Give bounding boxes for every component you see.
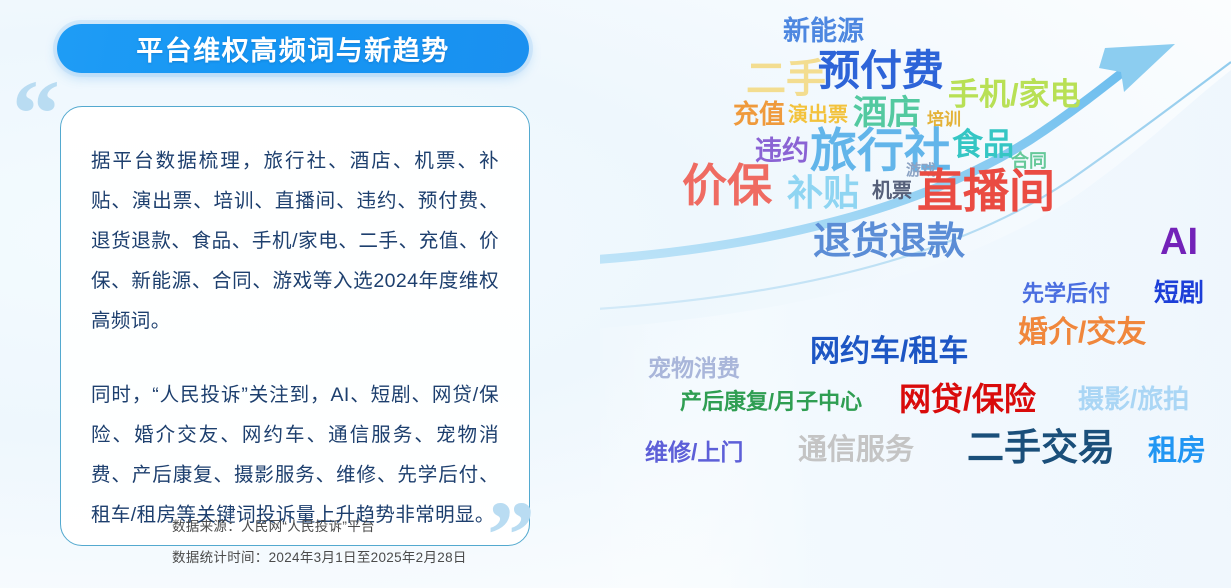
word-cloud-term: 手机/家电 bbox=[948, 79, 1081, 110]
source-line-1: 数据来源：人民网“人民投诉”平台 bbox=[172, 515, 1209, 535]
word-cloud-term: 产后康复/月子中心 bbox=[680, 391, 862, 413]
word-cloud-term: 二手 bbox=[746, 59, 826, 99]
word-cloud-term: 价保 bbox=[682, 163, 772, 208]
word-cloud-term: 网约车/租车 bbox=[810, 337, 968, 367]
paragraph-highfreq-words: 据平台数据梳理，旅行社、酒店、机票、补贴、演出票、培训、直播间、违约、预付费、退… bbox=[91, 141, 499, 341]
word-cloud-term: 短剧 bbox=[1154, 281, 1204, 306]
word-cloud-term: 婚介/交友 bbox=[1018, 318, 1146, 348]
word-cloud-term: 预付费 bbox=[818, 50, 944, 92]
page-title: 平台维权高频词与新趋势 bbox=[57, 24, 529, 73]
page-title-text: 平台维权高频词与新趋势 bbox=[136, 29, 450, 68]
description-card: 据平台数据梳理，旅行社、酒店、机票、补贴、演出票、培训、直播间、违约、预付费、退… bbox=[60, 106, 530, 546]
word-cloud-term: 充值 bbox=[733, 101, 785, 127]
word-cloud-term: 新能源 bbox=[783, 18, 864, 45]
source-line-2: 数据统计时间：2024年3月1日至2025年2月28日 bbox=[172, 546, 1209, 566]
word-cloud-term: 先学后付 bbox=[1022, 283, 1110, 305]
word-cloud-term: 演出票 bbox=[788, 105, 848, 125]
paragraph-new-trends: 同时，“人民投诉”关注到，AI、短剧、网贷/保险、婚介交友、网约车、通信服务、宠… bbox=[91, 375, 499, 535]
word-cloud-term: 食品 bbox=[952, 129, 1014, 160]
word-cloud-term: 直播间 bbox=[917, 168, 1055, 214]
word-cloud-term: 摄影/旅拍 bbox=[1078, 386, 1189, 412]
quote-close-icon: ” bbox=[487, 487, 535, 583]
word-cloud-term: 通信服务 bbox=[798, 436, 914, 465]
left-panel: 平台维权高频词与新趋势 “ 据平台数据梳理，旅行社、酒店、机票、补贴、演出票、培… bbox=[0, 0, 600, 588]
word-cloud-term: 网贷/保险 bbox=[899, 383, 1036, 415]
word-cloud-term: 租房 bbox=[1148, 437, 1206, 466]
word-cloud-term: 补贴 bbox=[787, 175, 859, 211]
word-cloud: 新能源预付费二手手机/家电充值演出票酒店培训违约旅行社食品合同游戏价保补贴机票直… bbox=[600, 0, 1231, 588]
word-cloud-term: 维修/上门 bbox=[645, 441, 743, 464]
word-cloud-term: AI bbox=[1160, 223, 1198, 261]
word-cloud-term: 宠物消费 bbox=[648, 357, 740, 380]
word-cloud-term: 二手交易 bbox=[967, 429, 1115, 466]
word-cloud-term: 退货退款 bbox=[813, 223, 965, 261]
quote-open-icon: “ bbox=[12, 66, 60, 162]
word-cloud-term: 机票 bbox=[872, 181, 912, 201]
